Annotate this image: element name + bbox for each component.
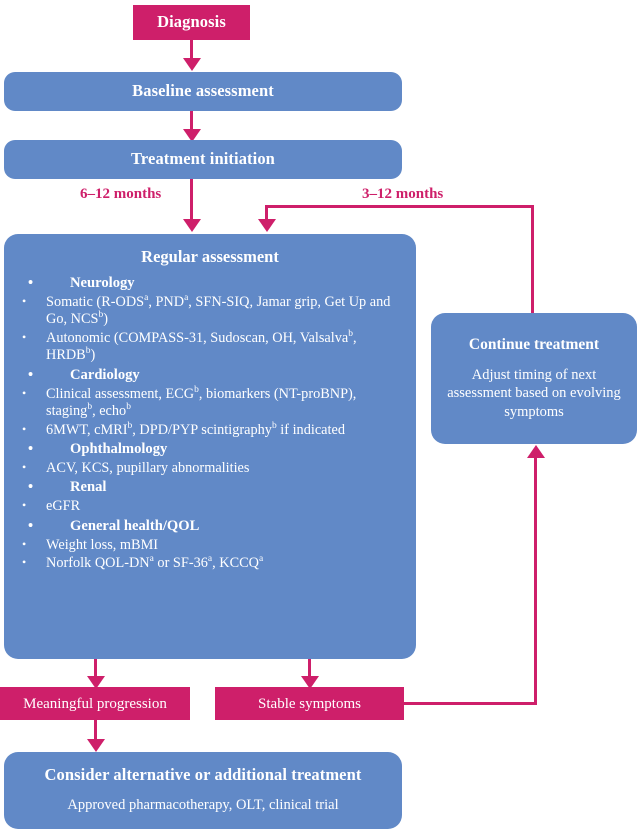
category-heading: • General health/QOL xyxy=(12,517,408,536)
bullet-icon: • xyxy=(22,555,26,570)
category-item: • ACV, KCS, pupillary abnormalities xyxy=(12,460,408,477)
bullet-icon: • xyxy=(22,330,26,345)
category-heading: • Neurology xyxy=(12,274,408,293)
category-heading: • Renal xyxy=(12,478,408,497)
bullet-icon: • xyxy=(22,537,26,552)
assessment-category: • Renal • eGFR xyxy=(12,478,408,515)
bullet-icon: • xyxy=(22,498,26,513)
bullet-icon: • xyxy=(22,460,26,475)
category-name: Ophthalmology xyxy=(70,441,167,457)
category-item-list: • Weight loss, mBMI • Norfolk QOL-DNa or… xyxy=(12,537,408,573)
category-item: • Autonomic (COMPASS-31, Sudoscan, OH, V… xyxy=(12,330,408,365)
node-diagnosis[interactable]: Diagnosis xyxy=(133,5,250,40)
node-baseline-assessment[interactable]: Baseline assessment xyxy=(4,72,402,111)
node-continue-treatment-title: Continue treatment xyxy=(431,336,637,354)
category-item-text: Autonomic (COMPASS-31, Sudoscan, OH, Val… xyxy=(46,330,357,363)
category-item-text: Norfolk QOL-DNa or SF-36a, KCCQa xyxy=(46,555,263,571)
arrowhead-continue-treatment xyxy=(527,445,545,458)
connector-loopback-horizontal xyxy=(265,205,534,208)
assessment-category: • Cardiology • Clinical assessment, ECGb… xyxy=(12,366,408,439)
category-item-text: ACV, KCS, pupillary abnormalities xyxy=(46,460,249,476)
bullet-icon: • xyxy=(22,294,26,309)
category-item-text: Weight loss, mBMI xyxy=(46,537,158,553)
category-item-text: eGFR xyxy=(46,498,80,514)
bullet-icon: • xyxy=(28,478,33,497)
node-baseline-assessment-label: Baseline assessment xyxy=(4,82,402,101)
node-stable-symptoms-label: Stable symptoms xyxy=(215,695,404,713)
node-continue-treatment[interactable]: Continue treatment Adjust timing of next… xyxy=(431,313,637,444)
connector-baseline-treatment xyxy=(190,111,193,131)
node-stable-symptoms[interactable]: Stable symptoms xyxy=(215,687,404,720)
node-consider-alternative-title: Consider alternative or additional treat… xyxy=(4,766,402,785)
category-item-list: • eGFR xyxy=(12,498,408,515)
arrowhead-baseline xyxy=(183,58,201,71)
connector-loopback-down-to-continue xyxy=(531,205,534,315)
connector-diagnosis-baseline xyxy=(190,40,193,60)
assessment-category: • Neurology • Somatic (R-ODSa, PNDa, SFN… xyxy=(12,274,408,365)
connector-treatment-regular xyxy=(190,179,193,221)
bullet-icon: • xyxy=(28,517,33,536)
node-meaningful-progression[interactable]: Meaningful progression xyxy=(0,687,190,720)
node-consider-alternative-body: Approved pharmacotherapy, OLT, clinical … xyxy=(4,796,402,815)
bullet-icon: • xyxy=(28,274,33,293)
assessment-category: • General health/QOL • Weight loss, mBMI… xyxy=(12,517,408,573)
node-continue-treatment-body: Adjust timing of next assessment based o… xyxy=(431,366,637,422)
category-item-text: 6MWT, cMRIb, DPD/PYP scintigraphyb if in… xyxy=(46,422,345,438)
category-name: General health/QOL xyxy=(70,518,199,534)
category-item: • eGFR xyxy=(12,498,408,515)
flowchart-canvas: Diagnosis Baseline assessment Treatment … xyxy=(0,0,640,833)
bullet-icon: • xyxy=(28,366,33,385)
category-item: • Norfolk QOL-DNa or SF-36a, KCCQa xyxy=(12,555,408,572)
category-name: Renal xyxy=(70,479,106,495)
connector-stable-to-continue-horizontal xyxy=(404,702,537,705)
assessment-category: • Ophthalmology • ACV, KCS, pupillary ab… xyxy=(12,440,408,477)
bullet-icon: • xyxy=(22,386,26,401)
node-regular-assessment[interactable]: Regular assessment • Neurology • Somatic… xyxy=(4,234,416,659)
node-regular-assessment-title: Regular assessment xyxy=(12,247,408,267)
category-item-list: • Somatic (R-ODSa, PNDa, SFN-SIQ, Jamar … xyxy=(12,294,408,365)
category-heading: • Ophthalmology xyxy=(12,440,408,459)
assessment-category-list: • Neurology • Somatic (R-ODSa, PNDa, SFN… xyxy=(12,274,408,573)
category-heading: • Cardiology xyxy=(12,366,408,385)
node-consider-alternative[interactable]: Consider alternative or additional treat… xyxy=(4,752,402,829)
bullet-icon: • xyxy=(28,440,33,459)
node-meaningful-progression-label: Meaningful progression xyxy=(0,695,190,713)
category-item: • Somatic (R-ODSa, PNDa, SFN-SIQ, Jamar … xyxy=(12,294,408,329)
bullet-icon: • xyxy=(22,422,26,437)
arrowhead-regular-assessment-right xyxy=(258,219,276,232)
arrowhead-consider-alternative xyxy=(87,739,105,752)
edge-label-first-interval: 6–12 months xyxy=(80,186,161,203)
category-item-text: Clinical assessment, ECGb, biomarkers (N… xyxy=(46,386,356,419)
category-name: Cardiology xyxy=(70,367,140,383)
node-treatment-initiation[interactable]: Treatment initiation xyxy=(4,140,402,179)
category-item: • 6MWT, cMRIb, DPD/PYP scintigraphyb if … xyxy=(12,422,408,439)
category-item-list: • Clinical assessment, ECGb, biomarkers … xyxy=(12,386,408,439)
category-item: • Weight loss, mBMI xyxy=(12,537,408,554)
connector-stable-to-continue-vertical xyxy=(534,458,537,704)
category-item-text: Somatic (R-ODSa, PNDa, SFN-SIQ, Jamar gr… xyxy=(46,294,390,327)
node-diagnosis-label: Diagnosis xyxy=(133,13,250,32)
category-name: Neurology xyxy=(70,275,135,291)
category-item-list: • ACV, KCS, pupillary abnormalities xyxy=(12,460,408,477)
category-item: • Clinical assessment, ECGb, biomarkers … xyxy=(12,386,408,421)
node-treatment-initiation-label: Treatment initiation xyxy=(4,150,402,169)
edge-label-followup-interval: 3–12 months xyxy=(362,186,443,203)
arrowhead-regular-assessment-left xyxy=(183,219,201,232)
